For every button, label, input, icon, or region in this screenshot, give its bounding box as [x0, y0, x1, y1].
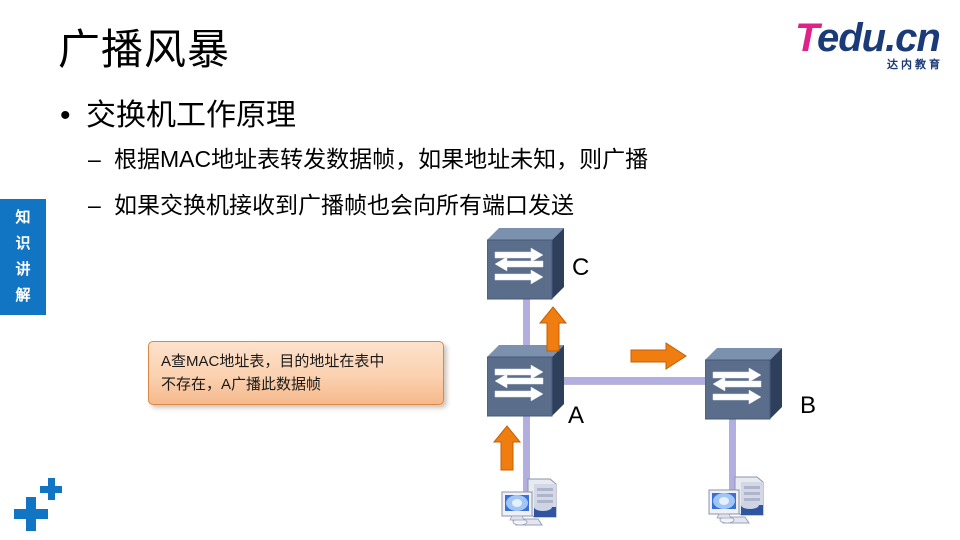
arrow-right-to-switch-b-icon: [630, 341, 688, 371]
pc-b-icon: [705, 473, 767, 529]
pc-a-icon: [498, 475, 560, 531]
switch-b-icon: [705, 348, 783, 420]
switch-b-label: B: [800, 392, 816, 420]
switch-c-icon: [487, 228, 565, 300]
arrow-up-to-switch-a-icon: [492, 425, 522, 471]
slide-canvas: Tedu.cn 达内教育 广播风暴 •交换机工作原理 –根据MAC地址表转发数据…: [0, 0, 960, 540]
switch-c-label: C: [572, 254, 589, 282]
switch-a-label: A: [568, 402, 584, 430]
network-diagram: C A: [0, 0, 960, 540]
switch-a-icon: [487, 345, 565, 417]
arrow-up-to-switch-c-icon: [538, 306, 568, 352]
